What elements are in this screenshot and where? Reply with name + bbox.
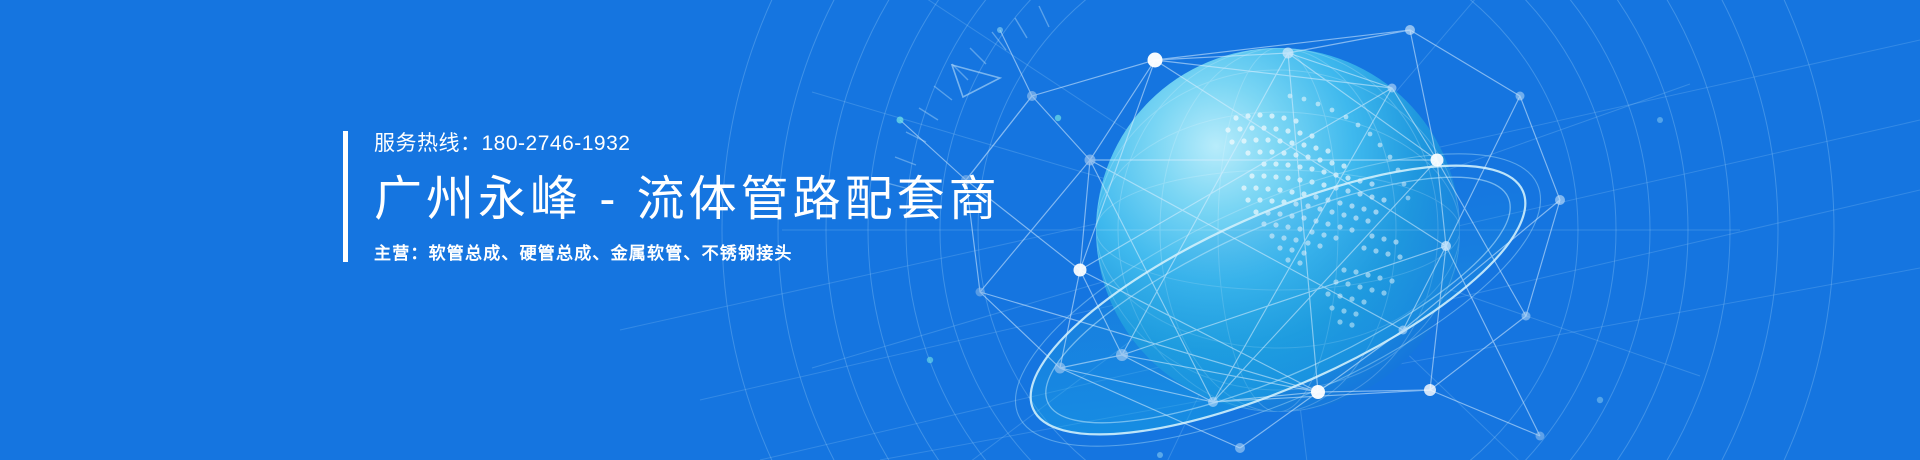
- banner-text-block: 服务热线：180-2746-1932 广州永峰 - 流体管路配套商 主营：软管总…: [343, 131, 1001, 262]
- hero-banner: 服务热线：180-2746-1932 广州永峰 - 流体管路配套商 主营：软管总…: [0, 0, 1920, 460]
- accent-bar: [343, 131, 348, 262]
- globe-continents-dots: [1225, 94, 1410, 328]
- globe-sphere: [1096, 48, 1460, 412]
- page-title: 广州永峰 - 流体管路配套商: [374, 176, 1001, 224]
- mesh-nodes: [897, 25, 1664, 458]
- text-lines: 服务热线：180-2746-1932 广州永峰 - 流体管路配套商 主营：软管总…: [374, 131, 1001, 262]
- product-list: 主营：软管总成、硬管总成、金属软管、不锈钢接头: [374, 245, 1001, 262]
- service-hotline: 服务热线：180-2746-1932: [374, 133, 1001, 154]
- triangle-marker: [952, 65, 1000, 97]
- orbit-fill: [998, 112, 1558, 460]
